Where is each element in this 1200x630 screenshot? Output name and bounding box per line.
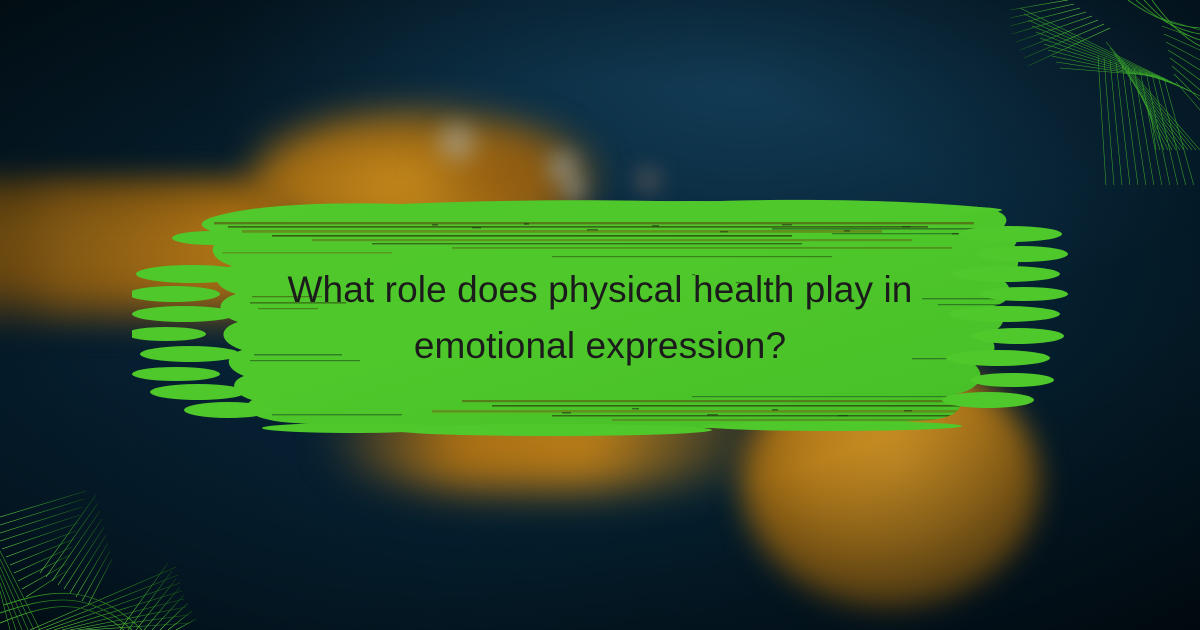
question-card: What role does physical health play in e… <box>0 0 1200 630</box>
brush-stroke-banner: What role does physical health play in e… <box>132 178 1068 450</box>
page-title: What role does physical health play in e… <box>190 262 1010 374</box>
